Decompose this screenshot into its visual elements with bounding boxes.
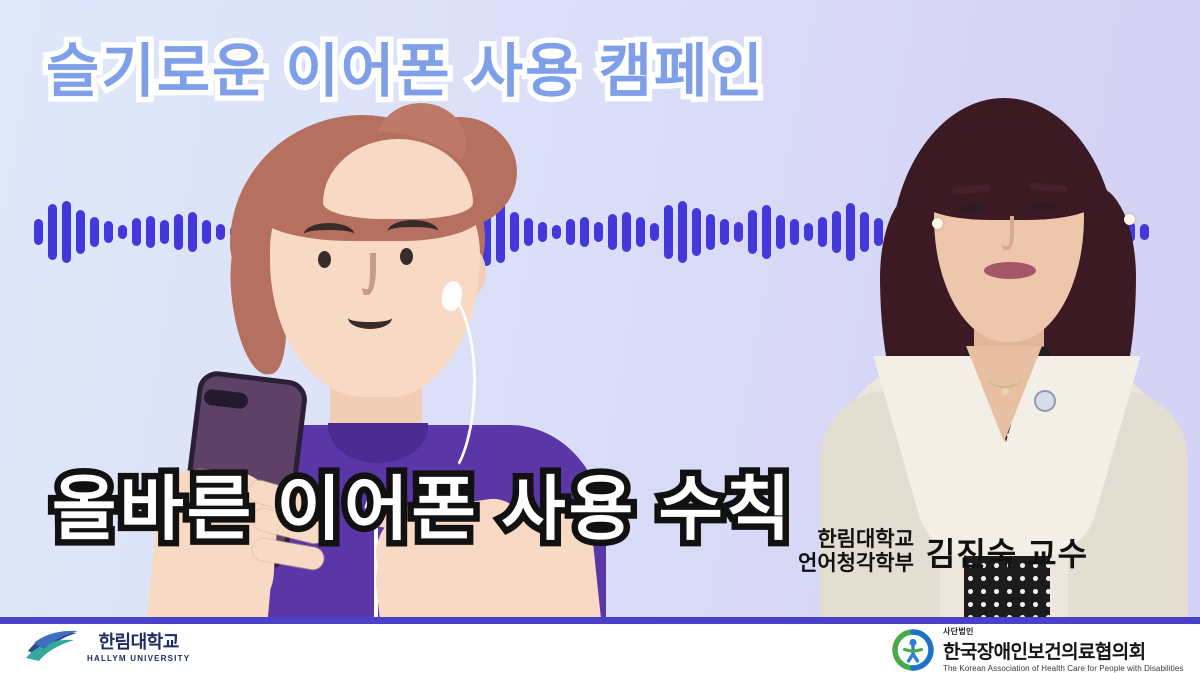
presenter-earring-right	[932, 218, 943, 229]
kahd-association-logo: 사단법인 한국장애인보건의료협의회 The Korean Association…	[892, 626, 1184, 673]
footer-divider	[0, 617, 1200, 624]
waveform-bar	[664, 205, 673, 259]
waveform-bar	[790, 219, 799, 245]
hallym-logo-english: HALLYM UNIVERSITY	[87, 654, 190, 663]
presenter-pendant	[1002, 388, 1009, 395]
speaker-affiliation-line2: 언어청각학부	[798, 552, 914, 576]
waveform-bar	[62, 201, 71, 263]
video-stage: 슬기로운 이어폰 사용 캠페인 올바른 이어폰 사용 수칙 한림대학교 언어청각…	[0, 0, 1200, 617]
campaign-subtitle: 올바른 이어폰 사용 수칙	[52, 453, 793, 554]
kahd-logo-korean: 한국장애인보건의료협의회	[943, 637, 1184, 664]
waveform-bar	[706, 214, 715, 250]
hallym-logo-text: 한림대학교 HALLYM UNIVERSITY	[87, 628, 190, 663]
waveform-bar	[748, 210, 757, 254]
kahd-circle-person-logo-icon	[892, 629, 934, 671]
hallym-logo-korean: 한림대학교	[98, 628, 178, 654]
presenter-lapel-pin-icon	[1034, 390, 1056, 412]
waveform-bar	[34, 219, 43, 245]
kahd-logo-text: 사단법인 한국장애인보건의료협의회 The Korean Association…	[943, 626, 1184, 673]
speaker-credit: 한림대학교 언어청각학부 김진숙 교수	[798, 528, 1088, 575]
speaker-affiliation: 한림대학교 언어청각학부	[798, 528, 914, 575]
speaker-affiliation-line1: 한림대학교	[798, 528, 914, 552]
waveform-bar	[48, 204, 57, 260]
presenter-earring-left	[1124, 214, 1135, 225]
kahd-logo-english: The Korean Association of Health Care fo…	[943, 664, 1184, 673]
illustration-eye-right	[400, 248, 413, 265]
campaign-title: 슬기로운 이어폰 사용 캠페인	[46, 24, 765, 108]
waveform-bar	[650, 223, 659, 241]
illustration-mouth	[348, 307, 392, 329]
waveform-bar	[720, 219, 729, 245]
speaker-name: 김진숙 교수	[926, 529, 1088, 575]
illustration-eye-left	[318, 251, 331, 268]
waveform-bar	[762, 205, 771, 259]
waveform-bar	[636, 217, 645, 247]
video-frame: 슬기로운 이어폰 사용 캠페인 올바른 이어폰 사용 수칙 한림대학교 언어청각…	[0, 0, 1200, 673]
waveform-bar	[776, 215, 785, 249]
waveform-bar	[608, 214, 617, 250]
hallym-wave-logo-icon	[24, 629, 80, 663]
waveform-bar	[692, 208, 701, 256]
waveform-bar	[734, 222, 743, 242]
waveform-bar	[678, 201, 687, 263]
presenter-eye-left	[958, 204, 984, 213]
kahd-logo-prefix: 사단법인	[943, 626, 1184, 637]
presenter-eye-right	[1030, 202, 1056, 211]
presenter-nose	[1002, 216, 1014, 250]
footer-logo-bar: 한림대학교 HALLYM UNIVERSITY 사단법인 한국장애인보건의료협의…	[0, 624, 1200, 673]
hallym-university-logo: 한림대학교 HALLYM UNIVERSITY	[24, 628, 190, 663]
waveform-bar	[622, 212, 631, 252]
presenter-necklace	[988, 368, 1022, 388]
presenter-lips	[984, 262, 1036, 279]
